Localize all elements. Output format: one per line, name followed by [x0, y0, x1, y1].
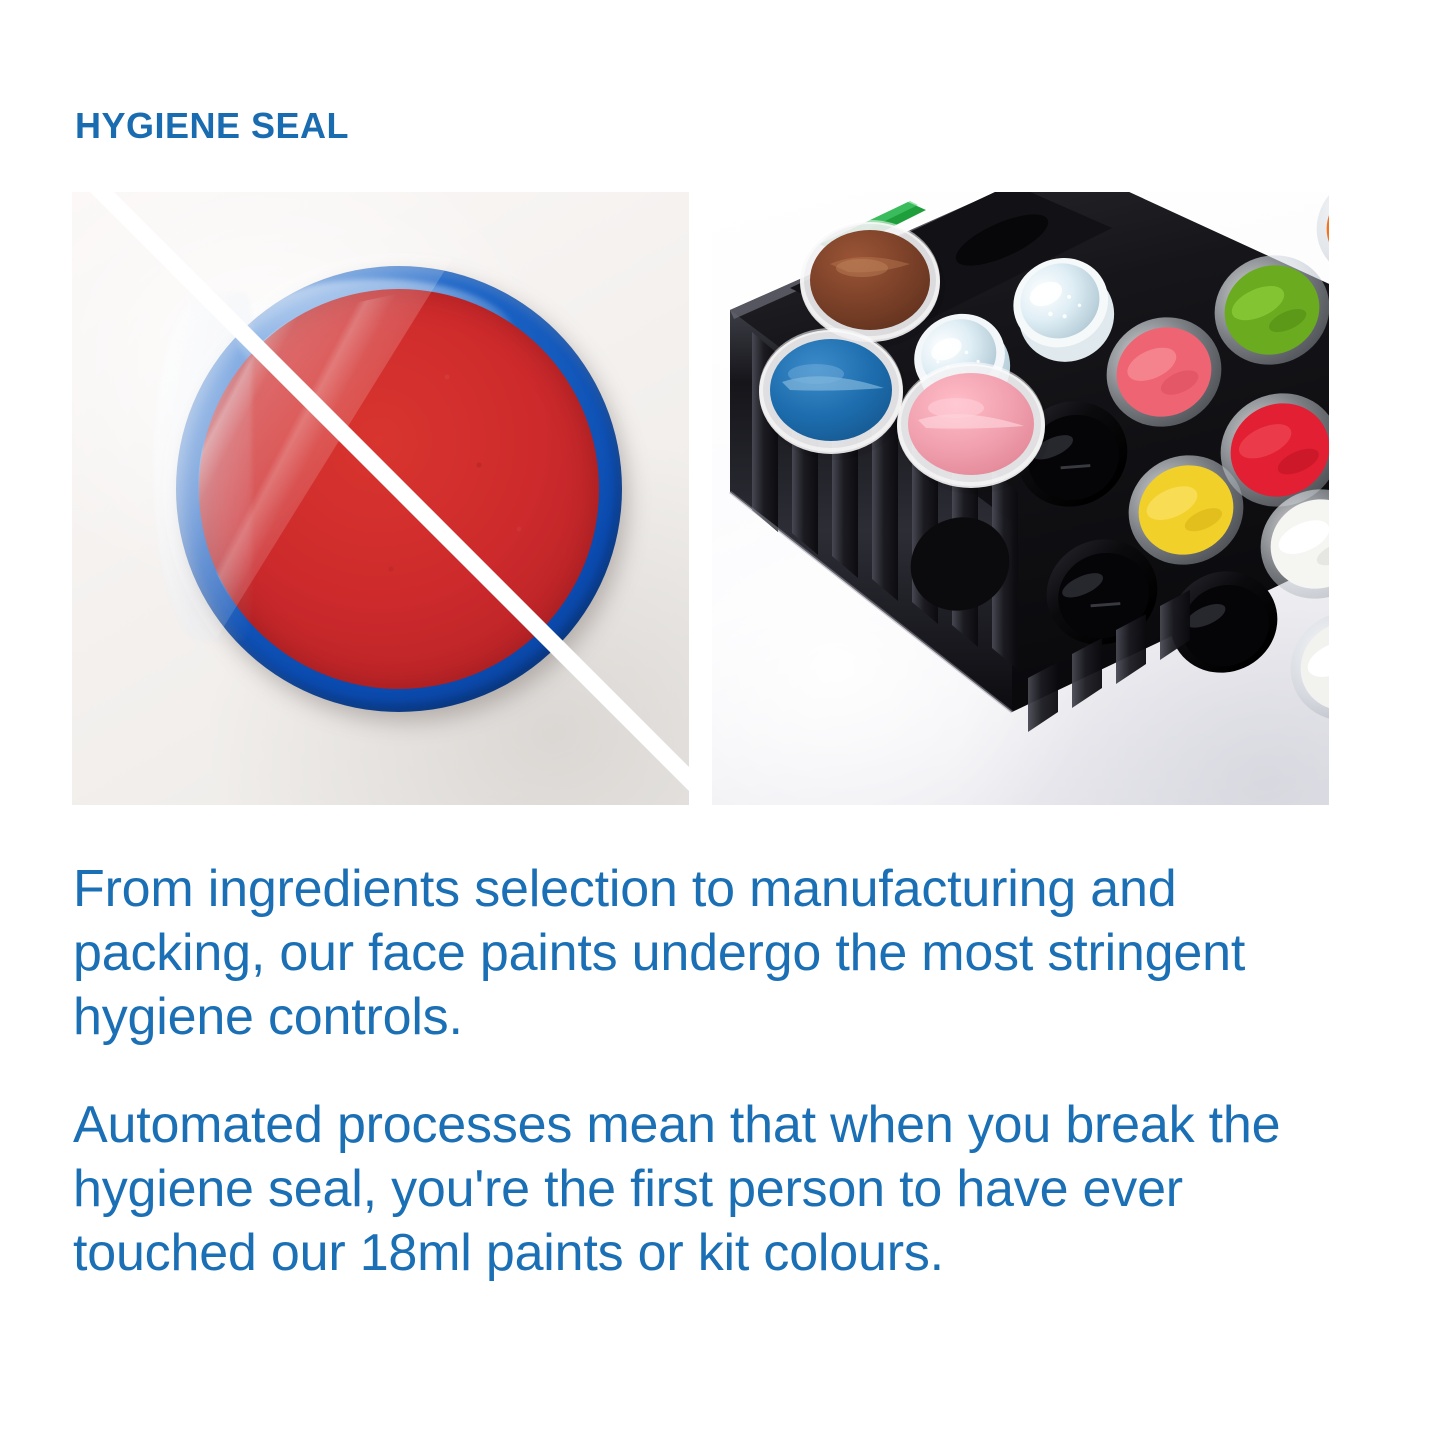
pink-paint-disc: [897, 364, 1050, 494]
loose-sealed-paint-discs: [712, 192, 1329, 805]
paragraph-2: Automated processes mean that when you b…: [73, 1094, 1333, 1286]
page-title: HYGIENE SEAL: [75, 106, 349, 146]
paragraph-1: From ingredients selection to manufactur…: [73, 858, 1333, 1050]
blue-paint-disc: [759, 330, 908, 460]
product-feature-page: HYGIENE SEAL: [0, 0, 1445, 1445]
paint-palette-tray-photo: [712, 192, 1329, 805]
hygiene-seal-comparison-photo: [72, 192, 689, 805]
seal-film-edge: [154, 293, 252, 641]
face-paint-pot: [176, 266, 622, 712]
body-copy: From ingredients selection to manufactur…: [73, 858, 1333, 1286]
image-gallery: [72, 192, 1328, 805]
